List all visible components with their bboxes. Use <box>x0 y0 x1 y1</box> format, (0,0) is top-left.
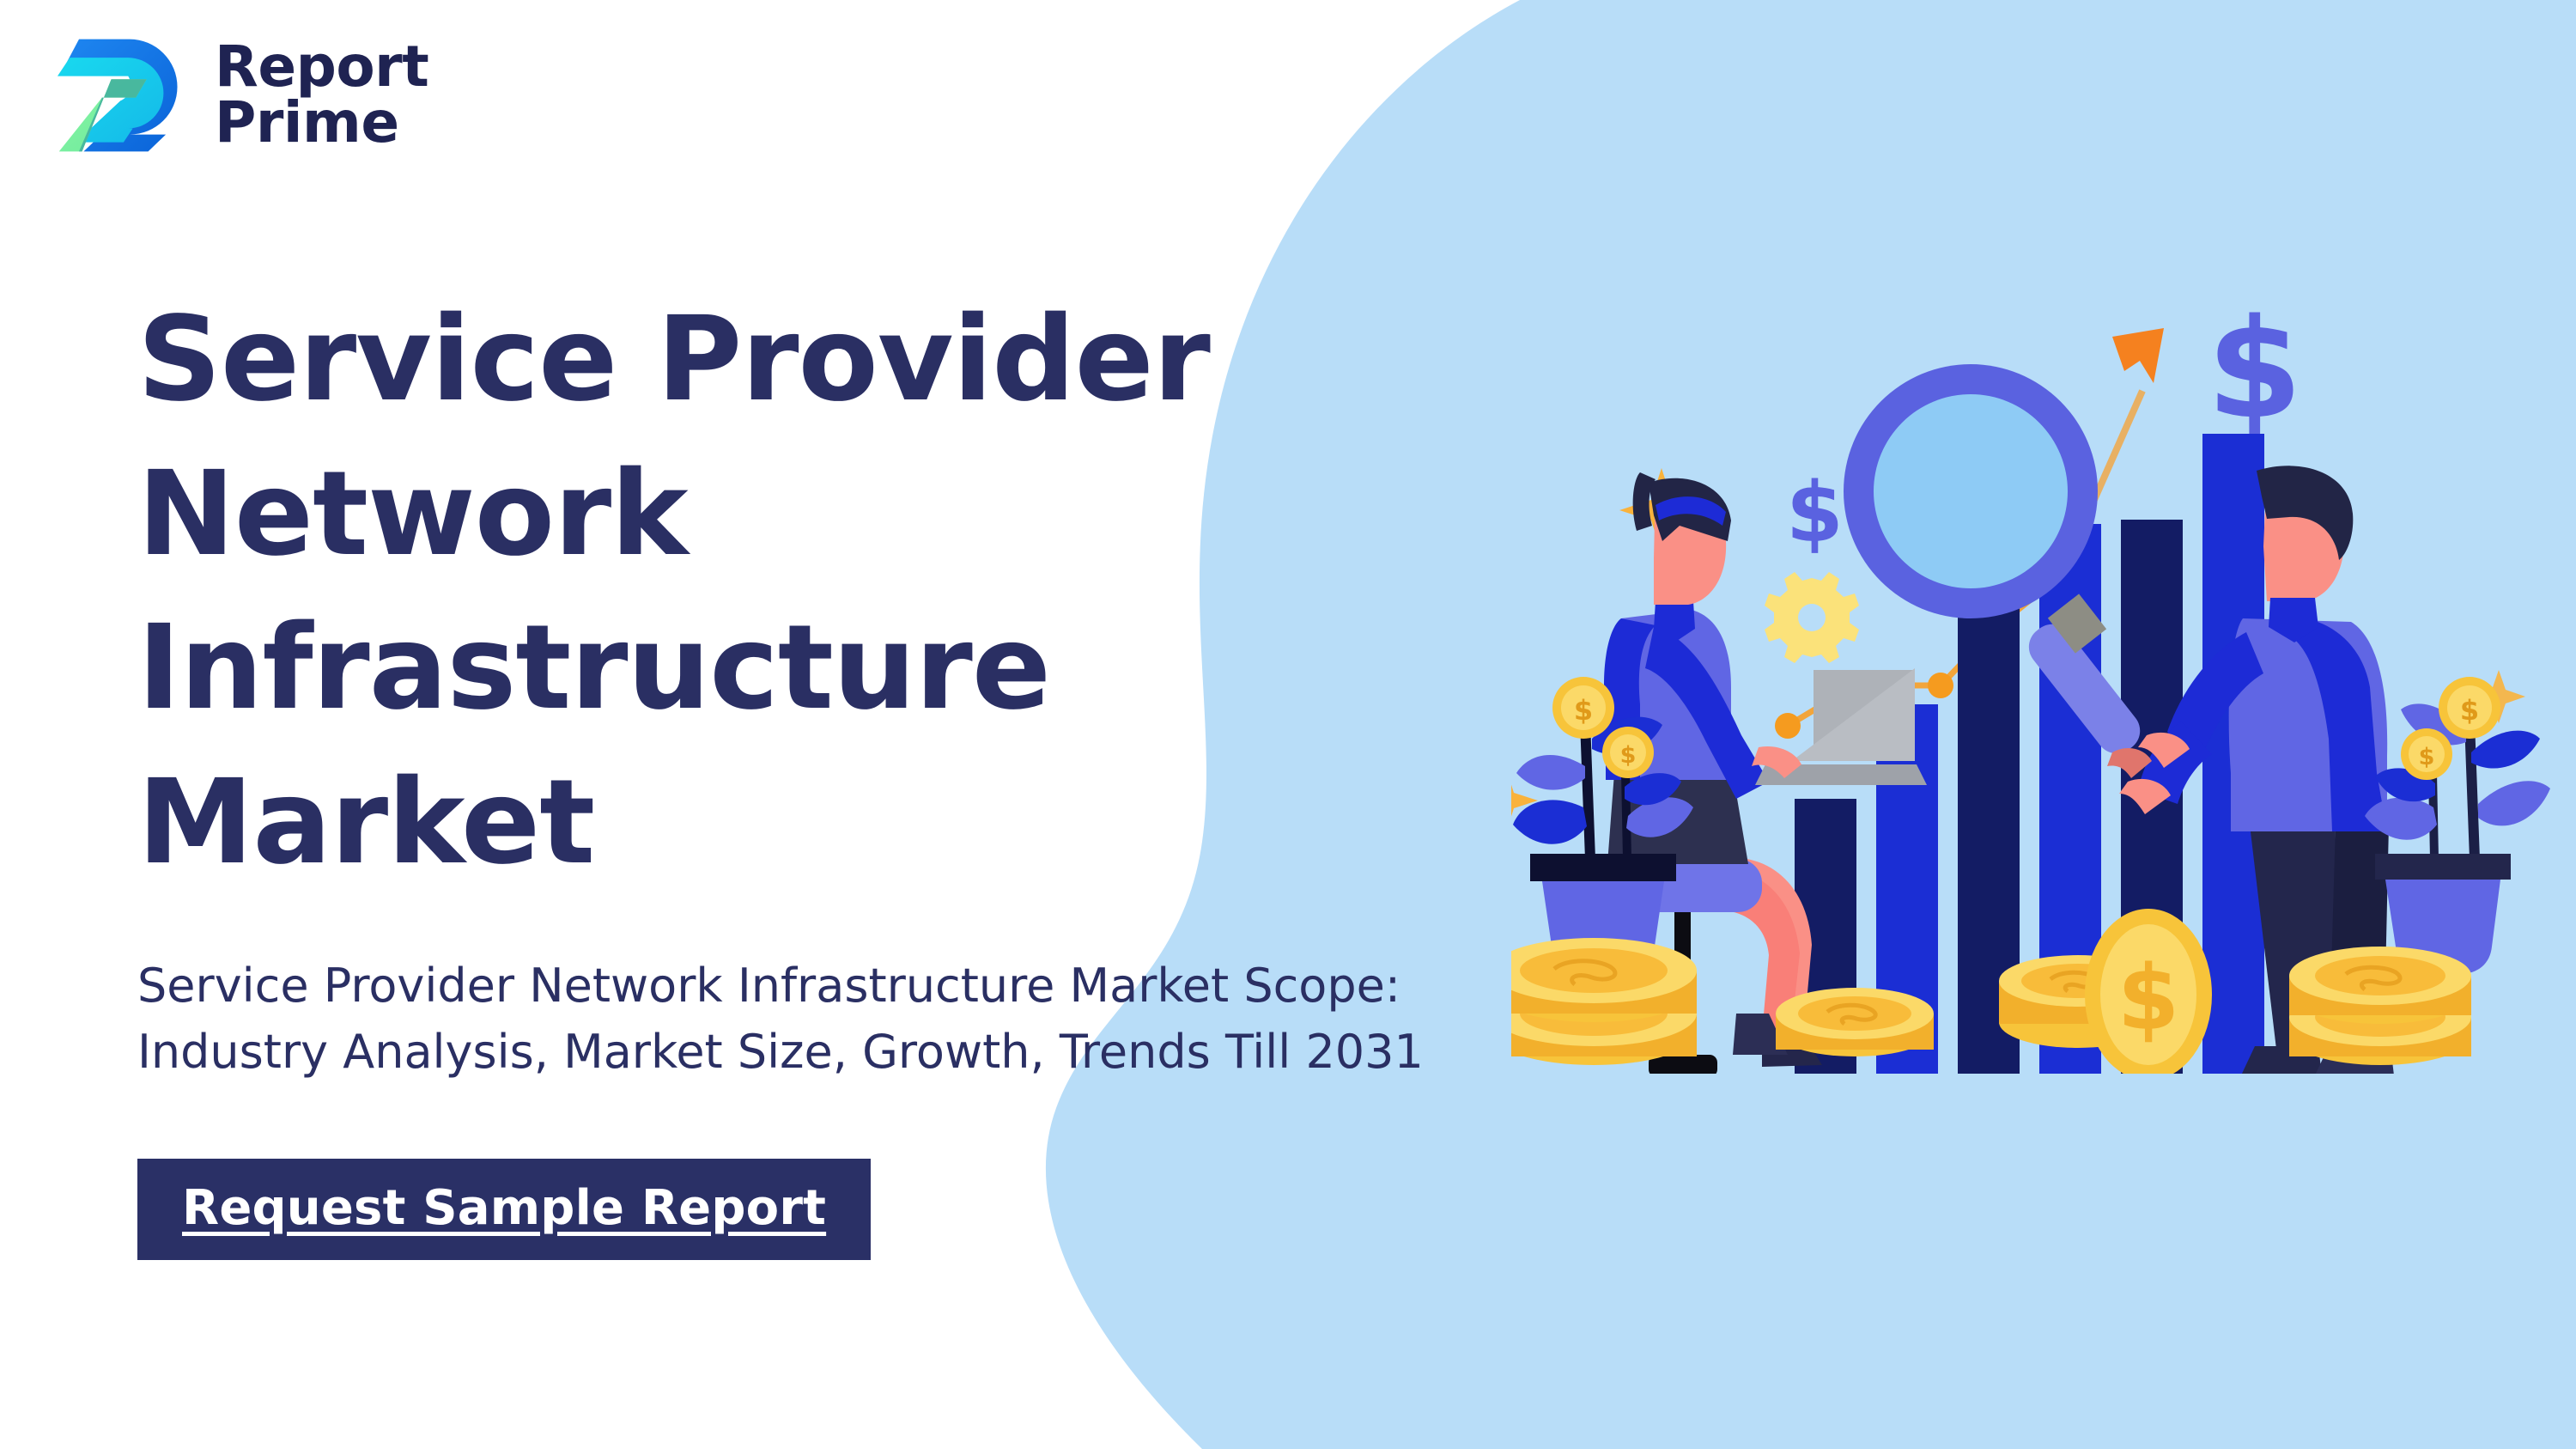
coin <box>2289 947 2471 1024</box>
plant-stem <box>2464 721 2480 859</box>
money-plant-right: $ $ <box>2365 677 2550 974</box>
report-prime-logo-mark-icon <box>31 22 185 168</box>
request-sample-report-button[interactable]: Request Sample Report <box>137 1159 871 1260</box>
brand-logo[interactable]: Report Prime <box>31 22 428 168</box>
standing-coin: $ <box>2085 909 2212 1074</box>
svg-text:$: $ <box>2419 744 2435 770</box>
dollar-sign-small-icon: $ <box>1786 465 1844 561</box>
brand-name-line1: Report <box>215 40 428 95</box>
dollar-sign-large-icon: $ <box>2207 289 2302 449</box>
leaf <box>2471 731 2540 769</box>
svg-text:$: $ <box>2460 694 2479 727</box>
svg-text:$: $ <box>1786 465 1844 561</box>
svg-text:$: $ <box>2117 946 2179 1050</box>
hero-text-column: Service Provider Network Infrastructure … <box>137 283 1580 1260</box>
brand-name-line2: Prime <box>215 95 428 151</box>
hero-subheadline: Service Provider Network Infrastructure … <box>137 953 1460 1085</box>
coin-stack-right <box>2289 947 2471 1065</box>
pot-rim <box>2375 854 2511 880</box>
growth-arrow-icon <box>2112 328 2164 383</box>
coin-stack-center-left <box>1776 988 1934 1056</box>
hero-banner: Report Prime Service Provider Network In… <box>0 0 2576 1449</box>
brand-wordmark: Report Prime <box>215 40 428 150</box>
page-title: Service Provider Network Infrastructure … <box>137 283 1528 900</box>
svg-text:$: $ <box>2207 289 2302 449</box>
market-analysis-illustration: $ $ <box>1511 258 2550 1074</box>
gear-icon <box>1765 572 1859 663</box>
leaf <box>2478 781 2550 825</box>
svg-text:$: $ <box>1620 742 1637 769</box>
